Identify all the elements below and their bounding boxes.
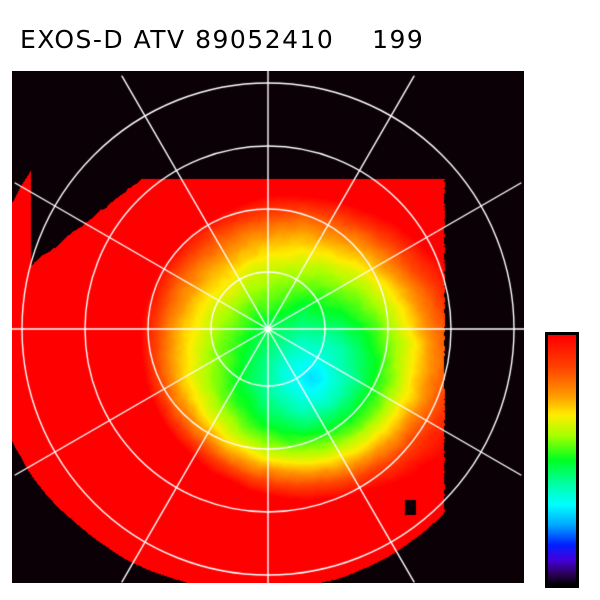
colorbar-gradient <box>548 335 576 585</box>
colorbar <box>545 332 579 588</box>
polar-image-canvas <box>12 71 524 583</box>
page-title: EXOS-D ATV 89052410 199 <box>20 25 424 54</box>
polar-image-panel <box>12 71 524 583</box>
